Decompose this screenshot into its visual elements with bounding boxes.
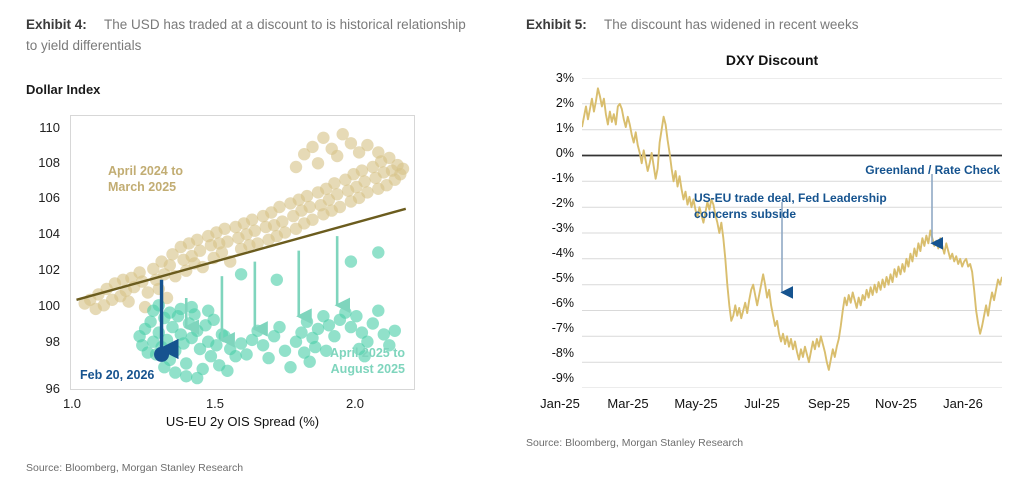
line-xtick-mar-25: Mar-25 xyxy=(598,396,658,411)
line-ytick-neg1: -1% xyxy=(532,171,574,185)
exhibit-4-source: Source: Bloomberg, Morgan Stanley Resear… xyxy=(26,462,243,474)
exhibit-5-source: Source: Bloomberg, Morgan Stanley Resear… xyxy=(526,437,743,449)
exhibit-4-panel: Exhibit 4: The USD has traded at a disco… xyxy=(0,0,512,484)
line-xtick-sep-25: Sep-25 xyxy=(799,396,859,411)
exhibit-5-heading: Exhibit 5: The discount has widened in r… xyxy=(526,14,996,35)
scatter-ytick-98: 98 xyxy=(0,334,60,349)
line-ytick-neg6: -6% xyxy=(532,296,574,310)
gold-cluster-label-line1: April 2024 to xyxy=(108,163,183,179)
line-xtick-jan-26: Jan-26 xyxy=(933,396,993,411)
exhibit-4-label: Exhibit 4: xyxy=(26,17,87,32)
line-xtick-nov-25: Nov-25 xyxy=(866,396,926,411)
line-ytick-neg2: -2% xyxy=(532,196,574,210)
annotation-trade-deal-line1: US-EU trade deal, Fed Leadership xyxy=(694,190,1004,206)
line-ytick-1: 1% xyxy=(532,121,574,135)
gold-cluster-label-line2: March 2025 xyxy=(108,179,183,195)
line-xtick-may-25: May-25 xyxy=(666,396,726,411)
line-chart-title: DXY Discount xyxy=(572,52,972,68)
line-plot-area xyxy=(582,78,1002,388)
line-ytick-neg8: -8% xyxy=(532,346,574,360)
green-cluster-label: April 2025 to August 2025 xyxy=(285,345,405,377)
gold-cluster-label: April 2024 to March 2025 xyxy=(108,163,183,195)
line-ytick-neg5: -5% xyxy=(532,271,574,285)
scatter-ytick-106: 106 xyxy=(0,190,60,205)
scatter-ytick-104: 104 xyxy=(0,226,60,241)
dxy-discount-line xyxy=(582,88,1002,370)
line-ytick-2: 2% xyxy=(532,96,574,110)
dollar-index-axis-title: Dollar Index xyxy=(26,82,100,97)
annotation-trade-deal-line2: concerns subside xyxy=(694,206,1004,222)
line-ytick-neg4: -4% xyxy=(532,246,574,260)
exhibit-4-heading: Exhibit 4: The USD has traded at a disco… xyxy=(26,14,476,56)
line-ytick-neg3: -3% xyxy=(532,221,574,235)
scatter-ytick-102: 102 xyxy=(0,262,60,277)
green-cluster-label-line1: April 2025 to xyxy=(285,345,405,361)
line-xtick-jan-25: Jan-25 xyxy=(530,396,590,411)
scatter-xaxis-title: US-EU 2y OIS Spread (%) xyxy=(70,414,415,429)
line-ytick-3: 3% xyxy=(532,71,574,85)
exhibit-5-title: The discount has widened in recent weeks xyxy=(604,17,858,32)
annotation-trade-deal: US-EU trade deal, Fed Leadership concern… xyxy=(694,190,1004,222)
exhibit-4-title: The USD has traded at a discount to is h… xyxy=(26,17,466,53)
highlight-point-label: Feb 20, 2026 xyxy=(80,368,154,382)
scatter-ytick-108: 108 xyxy=(0,155,60,170)
line-ytick-neg9: -9% xyxy=(532,371,574,385)
scatter-ytick-110: 110 xyxy=(0,120,60,135)
scatter-xtick-1-0: 1.0 xyxy=(52,396,92,411)
line-ytick-0: 0% xyxy=(532,146,574,160)
scatter-xtick-2-0: 2.0 xyxy=(335,396,375,411)
line-ytick-neg7: -7% xyxy=(532,321,574,335)
green-cluster-label-line2: August 2025 xyxy=(285,361,405,377)
highlight-point xyxy=(154,347,169,362)
exhibit-5-label: Exhibit 5: xyxy=(526,17,587,32)
line-xtick-jul-25: Jul-25 xyxy=(732,396,792,411)
annotation-greenland: Greenland / Rate Check xyxy=(760,162,1000,178)
line-svg xyxy=(582,78,1002,388)
scatter-xtick-1-5: 1.5 xyxy=(195,396,235,411)
scatter-ytick-100: 100 xyxy=(0,298,60,313)
scatter-ytick-96: 96 xyxy=(0,381,60,396)
